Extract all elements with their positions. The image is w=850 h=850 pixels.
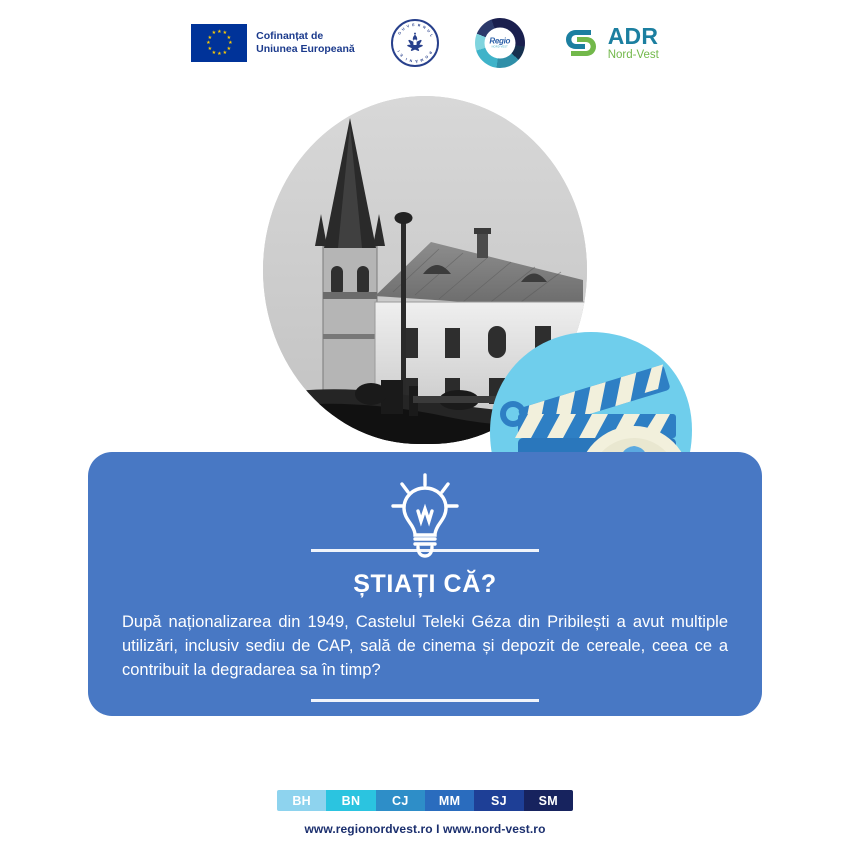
regio-nord-vest-logo: Regio NORD-VEST <box>475 18 525 68</box>
eu-logo-line2: Uniunea Europeană <box>256 43 355 56</box>
card-body-text: După naționalizarea din 1949, Castelul T… <box>122 610 728 682</box>
seal-letter: R <box>428 51 433 55</box>
county-cell-mm: MM <box>425 790 474 811</box>
adr-emblem-icon <box>561 23 601 63</box>
seal-letter: R <box>417 23 420 27</box>
bottom-divider-rule <box>311 699 539 702</box>
regio-subtitle: NORD-VEST <box>492 46 508 49</box>
seal-letter: N <box>409 58 412 62</box>
county-cell-cj: CJ <box>376 790 425 811</box>
eu-star-icon: ★ <box>212 51 216 55</box>
eu-star-icon: ★ <box>208 47 212 51</box>
hero-section <box>0 92 850 462</box>
adr-sub-text: Nord-Vest <box>608 50 659 62</box>
eu-star-icon: ★ <box>227 36 231 40</box>
infographic-poster: ★★★★★★★★★★★★ Cofinanțat de Uniunea Europ… <box>0 0 850 850</box>
seal-letter: L <box>429 34 434 38</box>
county-codes-bar: BHBNCJMMSJSM <box>277 790 573 811</box>
footer-urls: www.regionordvest.ro I www.nord-vest.ro <box>304 822 545 836</box>
eu-cofinancing-logo: ★★★★★★★★★★★★ Cofinanțat de Uniunea Europ… <box>191 24 355 62</box>
eu-star-icon: ★ <box>223 51 227 55</box>
eu-logo-text: Cofinanțat de Uniunea Europeană <box>256 30 355 57</box>
eu-flag-icon: ★★★★★★★★★★★★ <box>191 24 247 62</box>
county-cell-bh: BH <box>277 790 326 811</box>
adr-nord-vest-logo: ADR Nord-Vest <box>561 23 659 63</box>
seal-letter: M <box>419 57 423 62</box>
eu-star-icon: ★ <box>206 41 210 45</box>
eu-star-icon: ★ <box>228 41 232 45</box>
footer: BHBNCJMMSJSM www.regionordvest.ro I www.… <box>0 790 850 836</box>
eu-star-icon: ★ <box>212 31 216 35</box>
eu-star-icon: ★ <box>217 30 221 34</box>
eu-star-icon: ★ <box>208 36 212 40</box>
romanian-government-seal-icon: GUVERNULROMÂNIEI <box>391 19 439 67</box>
seal-letter: G <box>397 31 402 35</box>
lightbulb-header <box>122 468 728 564</box>
eu-logo-line1: Cofinanțat de <box>256 30 355 43</box>
seal-letter: E <box>412 23 415 27</box>
seal-letter: I <box>405 57 408 61</box>
did-you-know-card: ȘTIAȚI CĂ? După naționalizarea din 1949,… <box>88 452 762 716</box>
county-cell-sm: SM <box>524 790 573 811</box>
eagle-crest-icon <box>404 31 426 55</box>
county-cell-sj: SJ <box>474 790 523 811</box>
seal-letter: O <box>424 54 429 59</box>
card-title: ȘTIAȚI CĂ? <box>353 570 497 599</box>
seal-letter: Â <box>415 59 418 63</box>
seal-letter: I <box>397 50 401 53</box>
logo-strip: ★★★★★★★★★★★★ Cofinanțat de Uniunea Europ… <box>0 12 850 74</box>
regio-wordmark: Regio <box>489 37 510 45</box>
lightbulb-icon <box>388 473 462 559</box>
regio-logo-center: Regio NORD-VEST <box>484 28 515 59</box>
eu-star-icon: ★ <box>217 52 221 56</box>
seal-letter: V <box>406 24 410 29</box>
adr-main-text: ADR <box>608 25 659 48</box>
seal-letter: U <box>426 29 431 34</box>
county-cell-bn: BN <box>326 790 375 811</box>
adr-wordmark: ADR Nord-Vest <box>608 25 659 62</box>
eu-star-icon: ★ <box>227 47 231 51</box>
seal-letter: N <box>422 25 426 30</box>
